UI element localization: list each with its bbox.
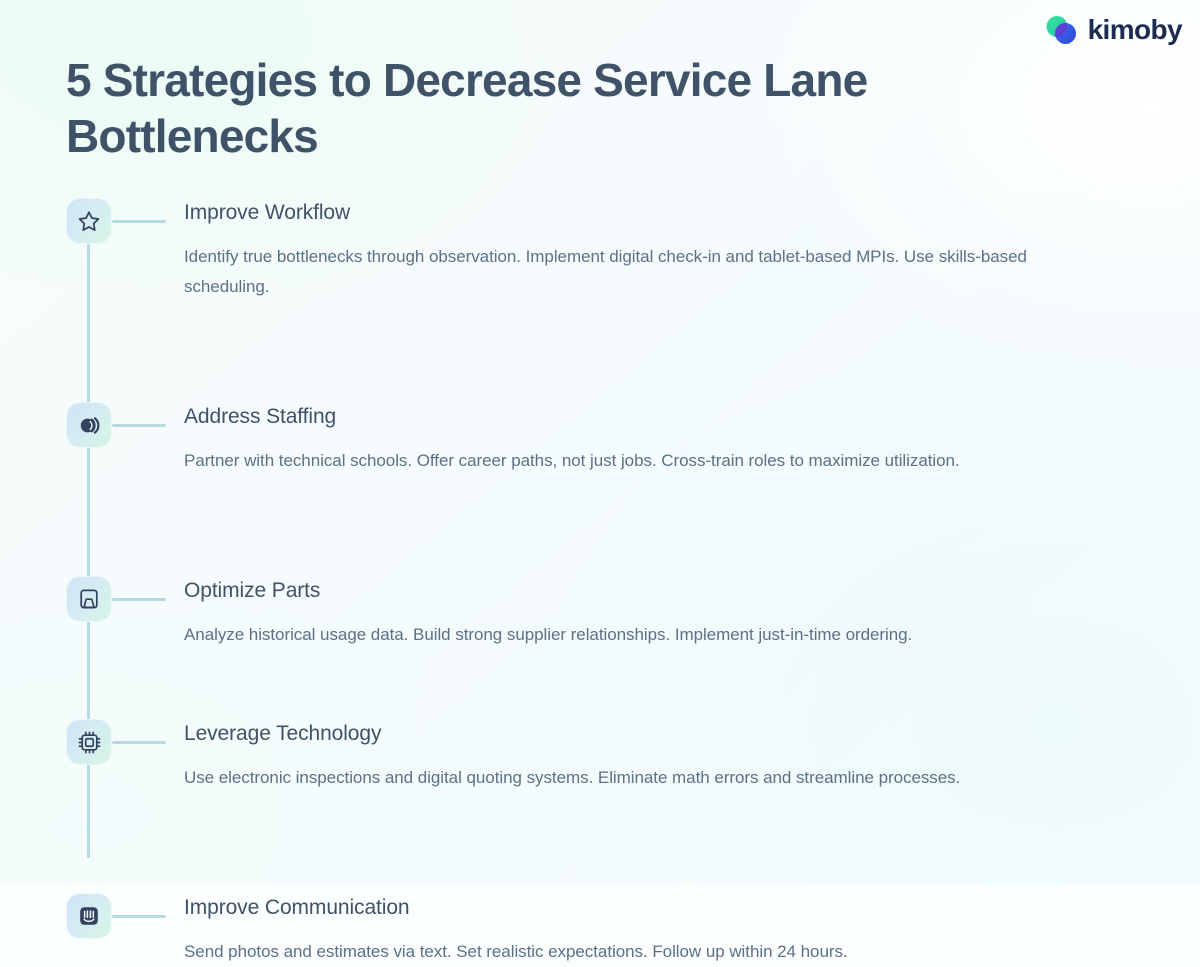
icon-badge <box>66 719 112 765</box>
timeline-connector <box>112 741 166 744</box>
icon-badge <box>66 576 112 622</box>
list-item: Optimize Parts Analyze historical usage … <box>66 576 1066 650</box>
item-title: Improve Communication <box>184 894 1044 921</box>
infographic-page: kimoby 5 Strategies to Decrease Service … <box>0 0 1200 884</box>
timeline-connector <box>112 424 166 427</box>
item-title: Leverage Technology <box>184 720 1044 747</box>
timeline-connector <box>112 598 166 601</box>
star-icon <box>77 209 101 233</box>
list-item: Improve Workflow Identify true bottlenec… <box>66 198 1066 302</box>
item-title: Improve Workflow <box>184 199 1044 226</box>
icon-badge <box>66 893 112 939</box>
item-description: Send photos and estimates via text. Set … <box>184 937 1034 967</box>
timeline-node <box>66 198 112 244</box>
parts-box-icon <box>77 587 101 611</box>
item-content: Improve Communication Send photos and es… <box>184 893 1044 967</box>
brand-name: kimoby <box>1088 14 1182 46</box>
item-description: Identify true bottlenecks through observ… <box>184 242 1034 302</box>
cpu-chip-icon <box>77 730 102 755</box>
item-title: Optimize Parts <box>184 577 1044 604</box>
list-item: Address Staffing Partner with technical … <box>66 402 1066 476</box>
brand-logo: kimoby <box>1045 14 1182 46</box>
timeline-connector <box>112 220 166 223</box>
item-content: Address Staffing Partner with technical … <box>184 402 1044 476</box>
strategy-timeline: Improve Workflow Identify true bottlenec… <box>66 198 1066 967</box>
item-title: Address Staffing <box>184 403 1044 430</box>
messenger-chat-icon <box>77 904 101 928</box>
timeline-node <box>66 893 112 939</box>
timeline-node <box>66 576 112 622</box>
icon-badge <box>66 402 112 448</box>
icon-badge <box>66 198 112 244</box>
item-content: Leverage Technology Use electronic inspe… <box>184 719 1044 793</box>
item-description: Use electronic inspections and digital q… <box>184 763 1034 793</box>
list-item: Improve Communication Send photos and es… <box>66 893 1066 967</box>
kimoby-two-circles-logo <box>1045 15 1079 45</box>
timeline-node <box>66 719 112 765</box>
item-description: Analyze historical usage data. Build str… <box>184 620 1034 650</box>
page-title: 5 Strategies to Decrease Service Lane Bo… <box>66 52 896 164</box>
timeline-node <box>66 402 112 448</box>
timeline-connector <box>112 915 166 918</box>
item-content: Improve Workflow Identify true bottlenec… <box>184 198 1044 302</box>
item-content: Optimize Parts Analyze historical usage … <box>184 576 1044 650</box>
logo-svg <box>1045 15 1079 45</box>
broadcast-waves-icon <box>77 413 102 438</box>
list-item: Leverage Technology Use electronic inspe… <box>66 719 1066 793</box>
item-description: Partner with technical schools. Offer ca… <box>184 446 1034 476</box>
